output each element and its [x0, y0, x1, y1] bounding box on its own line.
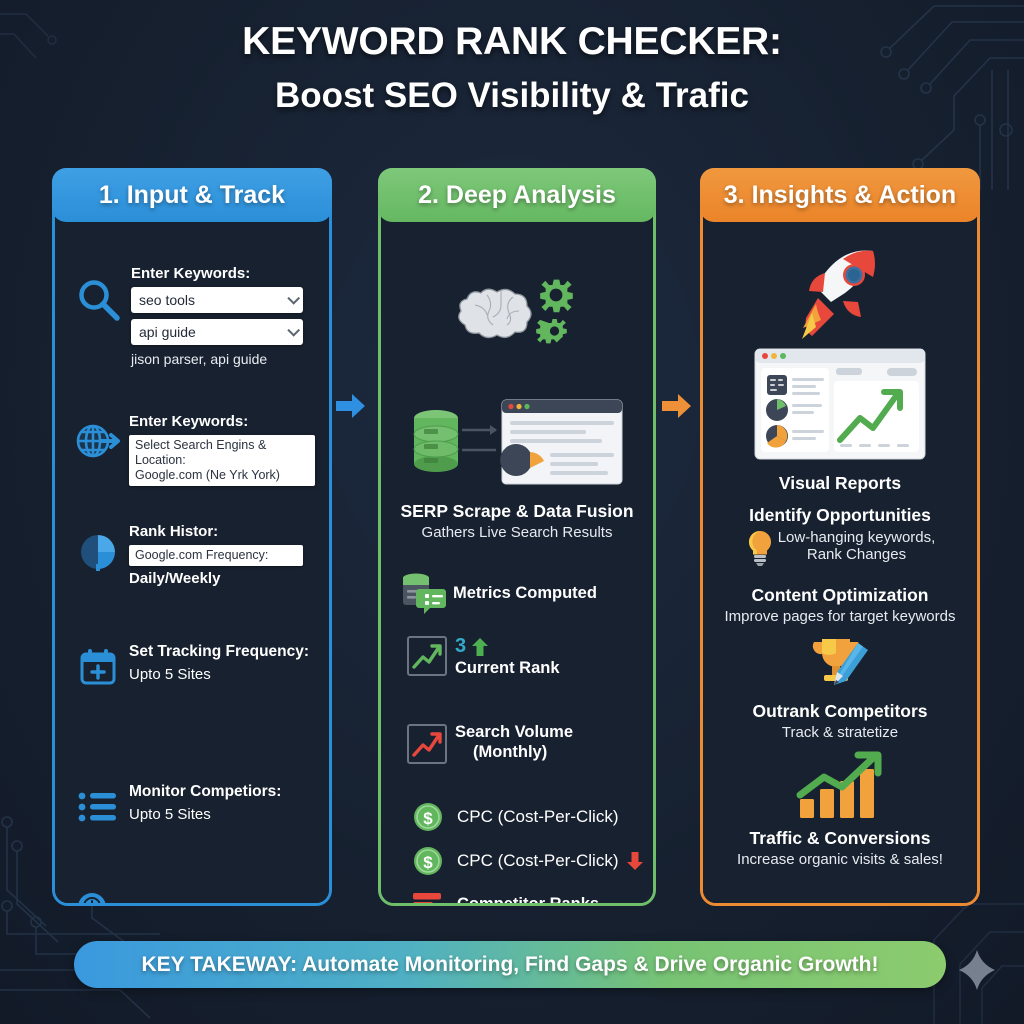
panel-3-header: 3. Insights & Action	[700, 168, 980, 222]
metric-competitor-ranks-label: Competitor Ranks	[457, 895, 599, 904]
key-takeaway-text: KEY TAKEWAY: Automate Monitoring, Find G…	[142, 953, 879, 977]
chevron-down-icon	[287, 292, 300, 305]
identify-opportunities-sub-1: Low-hanging keywords,	[778, 529, 936, 546]
metric-current-rank-label: Current Rank	[455, 659, 560, 678]
identify-opportunities-heading: Identify Opportunities	[703, 505, 977, 526]
trend-up-green-icon	[403, 635, 451, 677]
monitor-competitors-label: Monitor Competiors:	[129, 783, 281, 801]
title-line-1: KEYWORD RANK CHECKER:	[0, 20, 1024, 64]
block-identify-opportunities: Identify Opportunities Low-hanging keywo…	[703, 505, 977, 567]
panel-1-body: Enter Keywords: seo tools api guide jiso…	[55, 223, 329, 903]
rank-history-textbox[interactable]: Google.com Frequency:	[129, 545, 303, 566]
block-visual-reports: Visual Reports	[703, 473, 977, 494]
dollar-circle-icon: $	[407, 801, 449, 833]
visual-reports-heading: Visual Reports	[703, 473, 977, 494]
rocket-icon	[703, 243, 977, 347]
block-traffic-conversions: Traffic & Conversions Increase organic v…	[703, 828, 977, 868]
trophy-pencil-icon	[703, 635, 977, 693]
metric-search-volume-sub: (Monthly)	[473, 743, 573, 762]
panel-3-body: Visual Reports Identify Opportunities Lo…	[703, 223, 977, 903]
traffic-conversions-sub: Increase organic visits & sales!	[703, 851, 977, 868]
monitor-competitors-sub: Upto 5 Sites	[129, 806, 281, 823]
metric-search-volume[interactable]: Search Volume (Monthly)	[403, 723, 573, 765]
search-engines-textbox[interactable]: Select Search Engins & Location: Google.…	[129, 435, 315, 486]
page-title: KEYWORD RANK CHECKER: Boost SEO Visibili…	[0, 20, 1024, 116]
panel-deep-analysis[interactable]: 2. Deep Analysis	[378, 168, 656, 906]
content-optimization-sub: Improve pages for target keywords	[703, 608, 977, 625]
brain-gears-icon	[381, 271, 653, 349]
row-add-to-dashboard[interactable]: Add to Dashboard	[69, 888, 270, 903]
rank-history-label: Rank Histor:	[129, 523, 303, 540]
globe-arrow-icon	[69, 413, 127, 471]
row-enter-keywords[interactable]: Enter Keywords: seo tools api guide jiso…	[71, 265, 303, 367]
keyword-select-1[interactable]: seo tools	[131, 287, 303, 313]
rank-history-sub: Daily/Weekly	[129, 570, 303, 587]
search-engines-line-2: Google.com (Ne Yrk York)	[135, 468, 309, 483]
bar-ranks-icon	[407, 891, 449, 903]
metric-search-volume-label: Search Volume	[455, 723, 573, 742]
row-tracking-frequency[interactable]: Set Tracking Frequency: Upto 5 Sites	[69, 643, 309, 691]
pie-chart-icon	[69, 523, 127, 581]
search-engines-line-1: Select Search Engins & Location:	[135, 438, 309, 468]
list-icon	[69, 783, 127, 831]
database-to-browser-icon	[381, 398, 653, 490]
outrank-competitors-sub: Track & stratetize	[703, 724, 977, 741]
metric-current-rank[interactable]: 3 Current Rank	[403, 635, 560, 678]
row-monitor-competitors[interactable]: Monitor Competiors: Upto 5 Sites	[69, 783, 281, 831]
serp-caption-sub: Gathers Live Search Results	[381, 524, 653, 541]
trend-up-red-icon	[403, 723, 451, 765]
metric-metrics-computed-label: Metrics Computed	[453, 584, 597, 603]
panel-2-body: SERP Scrape & Data Fusion Gathers Live S…	[381, 223, 653, 903]
metric-metrics-computed[interactable]: Metrics Computed	[399, 571, 597, 615]
sparkle-icon	[955, 948, 999, 992]
metric-cpc-1[interactable]: $ CPC (Cost-Per-Click)	[407, 801, 619, 833]
metric-cpc-1-label: CPC (Cost-Per-Click)	[457, 807, 619, 827]
serp-caption-main: SERP Scrape & Data Fusion	[381, 501, 653, 522]
arrow-up-icon	[471, 637, 489, 657]
bar-growth-icon	[703, 751, 977, 819]
current-rank-value: 3	[455, 635, 466, 658]
dashboard-clock-icon	[69, 888, 127, 903]
arrow-panel1-to-panel2-a	[336, 392, 366, 420]
tracking-frequency-label: Set Tracking Frequency:	[129, 643, 309, 661]
panel-1-header: 1. Input & Track	[52, 168, 332, 222]
identify-opportunities-sub-2: Rank Changes	[778, 546, 936, 563]
row-search-engines[interactable]: Enter Keywords: Select Search Engins & L…	[69, 413, 315, 486]
server-chat-icon	[399, 571, 451, 615]
arrow-down-icon	[626, 851, 644, 871]
panel-2-header: 2. Deep Analysis	[378, 168, 656, 222]
lightbulb-icon	[745, 529, 775, 567]
row-rank-history[interactable]: Rank Histor: Google.com Frequency: Daily…	[69, 523, 303, 587]
svg-text:$: $	[423, 853, 433, 872]
tracking-frequency-sub: Upto 5 Sites	[129, 666, 309, 683]
analytics-dashboard-icon	[703, 348, 977, 460]
enter-keywords-label: Enter Keywords:	[131, 265, 303, 282]
svg-text:$: $	[423, 809, 433, 828]
block-content-optimization: Content Optimization Improve pages for t…	[703, 585, 977, 625]
search-engines-label: Enter Keywords:	[129, 413, 315, 430]
keyword-select-1-value: seo tools	[139, 292, 195, 308]
rank-history-value: Google.com Frequency:	[135, 548, 297, 563]
traffic-conversions-heading: Traffic & Conversions	[703, 828, 977, 849]
panel-insights-action[interactable]: 3. Insights & Action	[700, 168, 980, 906]
calendar-plus-icon	[69, 643, 127, 691]
serp-caption: SERP Scrape & Data Fusion Gathers Live S…	[381, 501, 653, 541]
panel-input-track[interactable]: 1. Input & Track Enter Keywords: seo too…	[52, 168, 332, 906]
metric-cpc-2[interactable]: $ CPC (Cost-Per-Click)	[407, 845, 644, 877]
search-icon	[71, 265, 127, 335]
dollar-circle-icon: $	[407, 845, 449, 877]
block-outrank-competitors: Outrank Competitors Track & stratetize	[703, 701, 977, 741]
title-line-2: Boost SEO Visibility & Trafic	[0, 76, 1024, 116]
arrow-panel2-to-panel3	[662, 392, 692, 420]
keyword-select-2-value: api guide	[139, 324, 196, 340]
outrank-competitors-heading: Outrank Competitors	[703, 701, 977, 722]
keyword-select-2[interactable]: api guide	[131, 319, 303, 345]
key-takeaway-banner[interactable]: KEY TAKEWAY: Automate Monitoring, Find G…	[74, 941, 946, 988]
chevron-down-icon	[287, 324, 300, 337]
keyword-hint: jison parser, api guide	[131, 351, 303, 367]
metric-competitor-ranks[interactable]: Competitor Ranks	[407, 891, 599, 903]
infographic-canvas: KEYWORD RANK CHECKER: Boost SEO Visibili…	[0, 0, 1024, 1024]
content-optimization-heading: Content Optimization	[703, 585, 977, 606]
metric-cpc-2-label: CPC (Cost-Per-Click)	[457, 851, 619, 871]
